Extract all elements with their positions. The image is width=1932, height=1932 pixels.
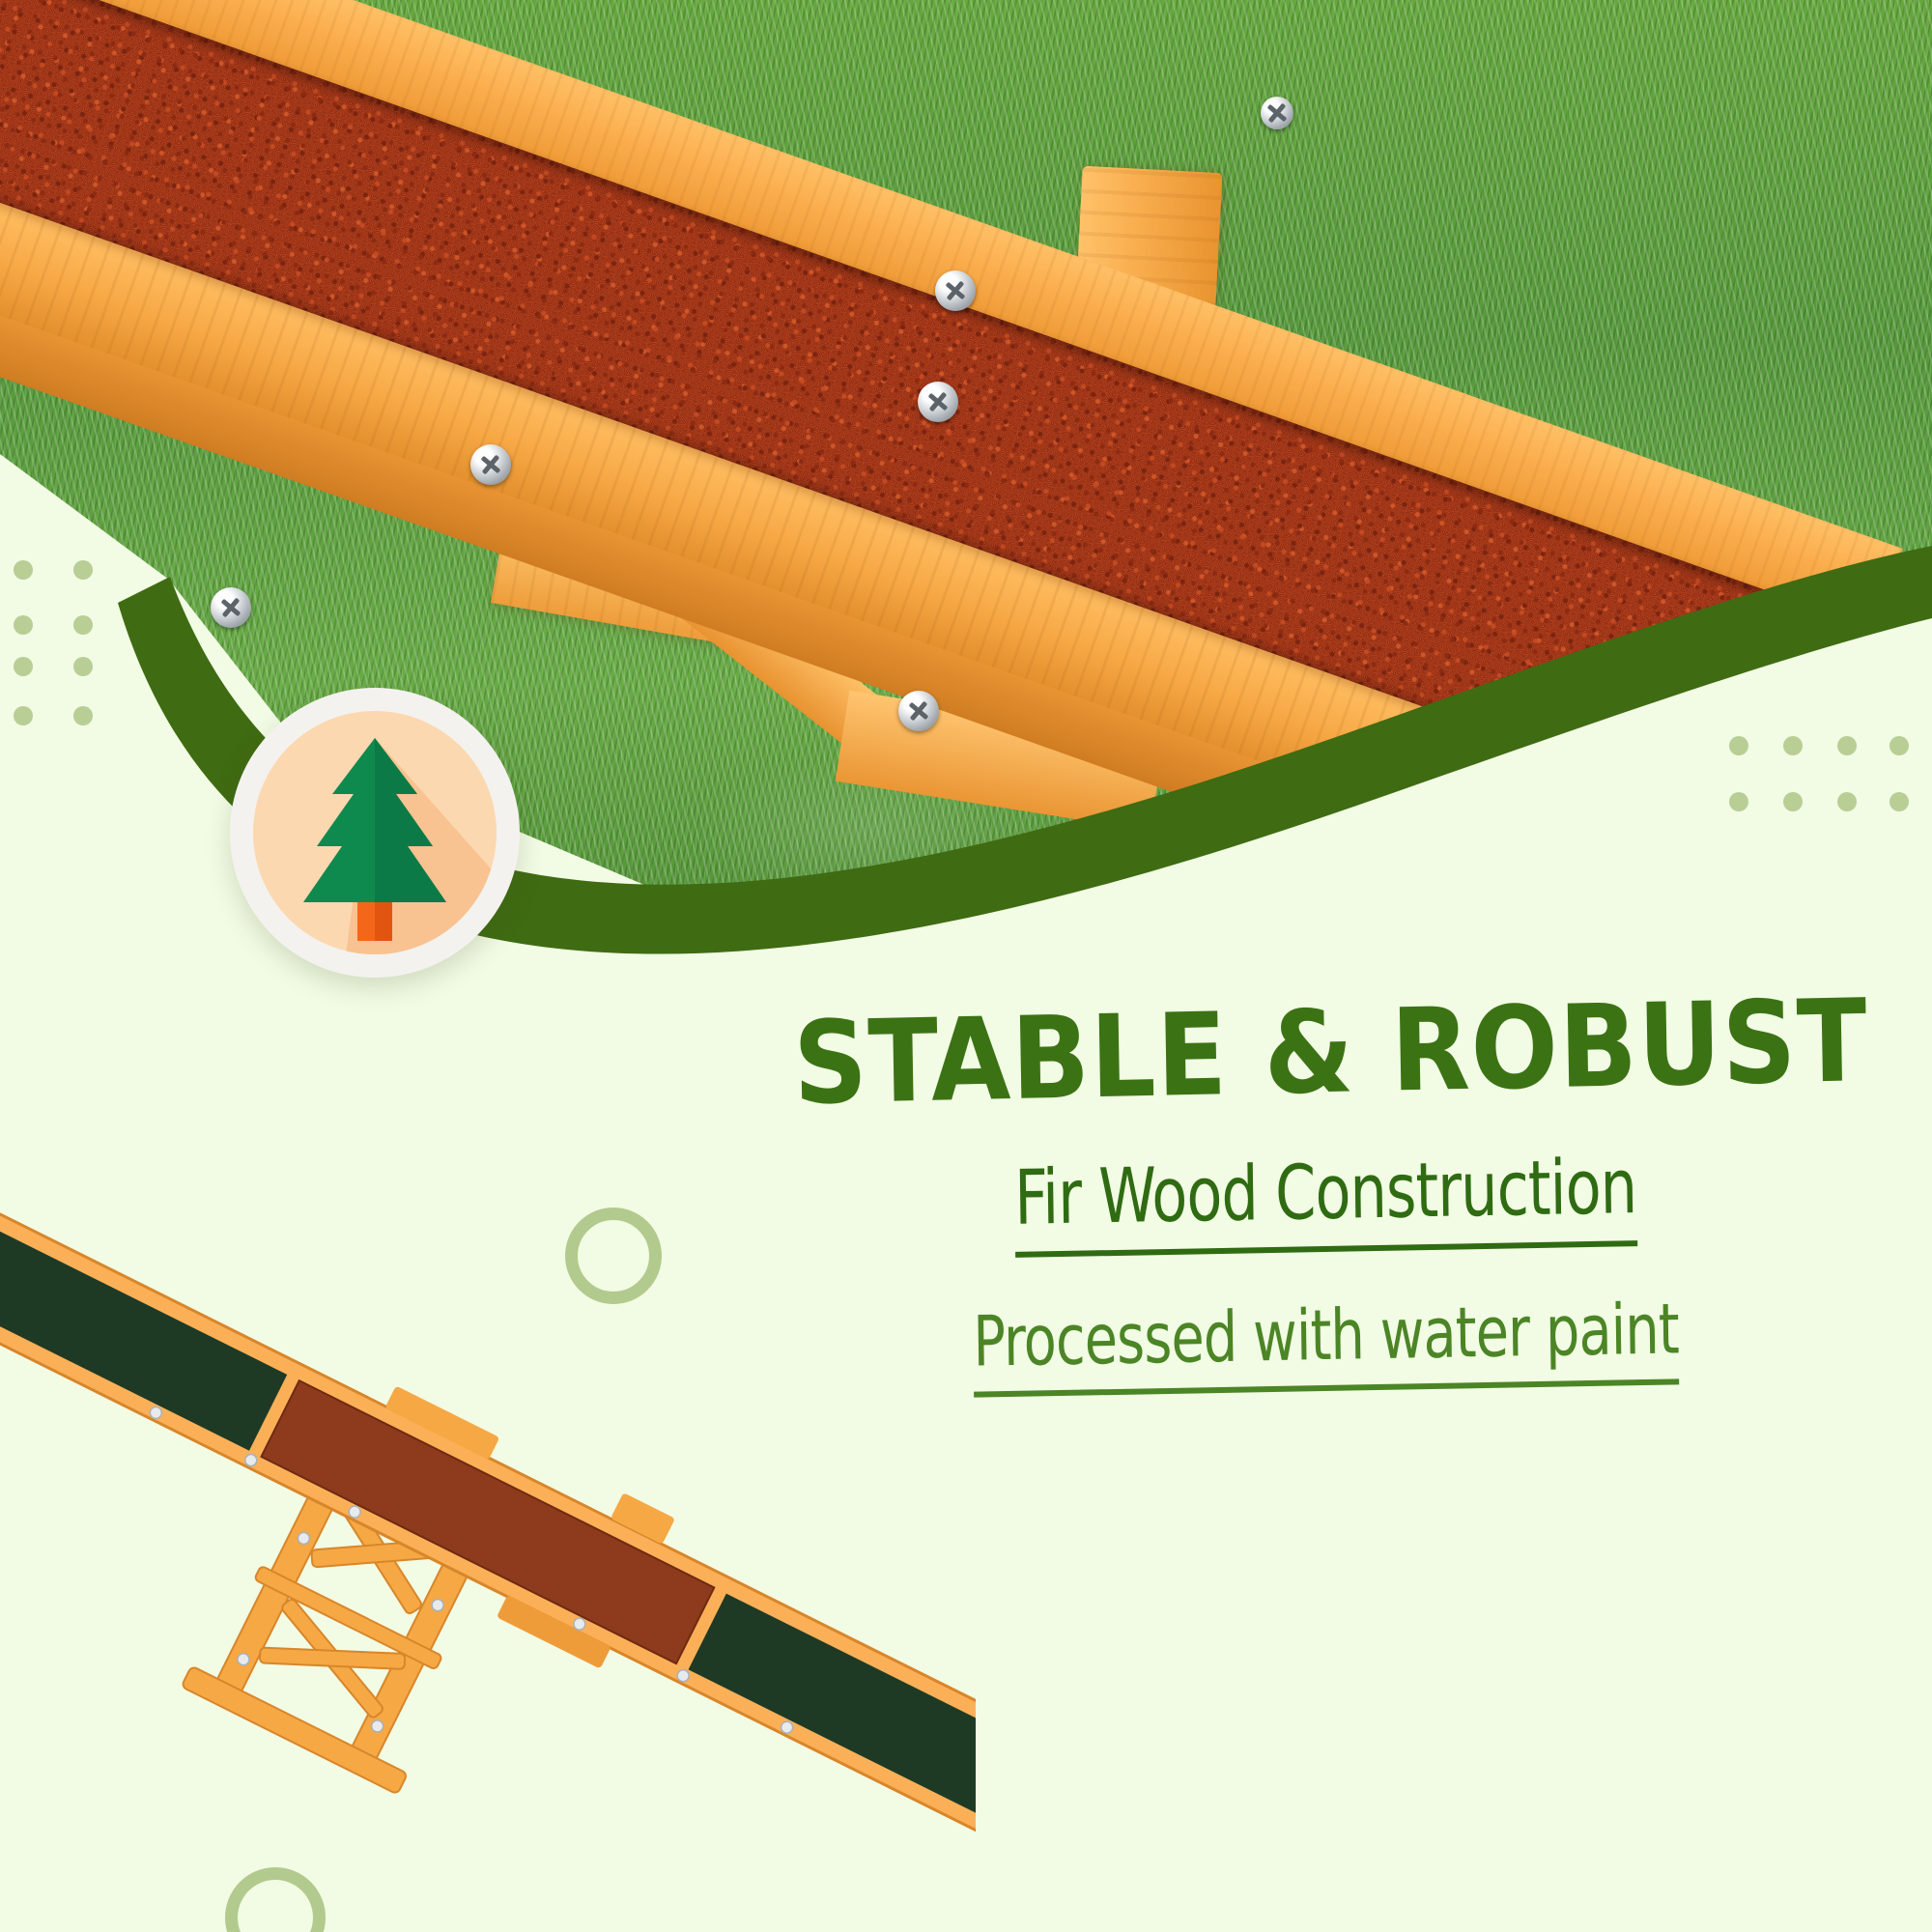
badge-inner-circle (253, 711, 497, 954)
marketing-banner: STABLE & ROBUST Fir Wood Construction Pr… (0, 0, 1932, 1932)
fir-wood-badge (230, 688, 520, 978)
screw-icon (898, 691, 939, 731)
screw-icon (918, 382, 958, 422)
subtitle-water-paint: Processed with water paint (973, 1288, 1680, 1397)
screw-icon (470, 444, 511, 485)
subtitle-1-container: Fir Wood Construction (734, 1150, 1918, 1252)
subtitle-2-container: Processed with water paint (734, 1294, 1918, 1391)
product-photo (0, 1135, 976, 1932)
subtitle-fir-wood: Fir Wood Construction (1014, 1144, 1637, 1258)
screw-icon (211, 587, 251, 628)
screw-icon (1261, 97, 1293, 129)
fir-tree-icon (253, 711, 497, 954)
page-title: STABLE & ROBUST (792, 976, 1860, 1128)
screw-icon (935, 270, 976, 311)
